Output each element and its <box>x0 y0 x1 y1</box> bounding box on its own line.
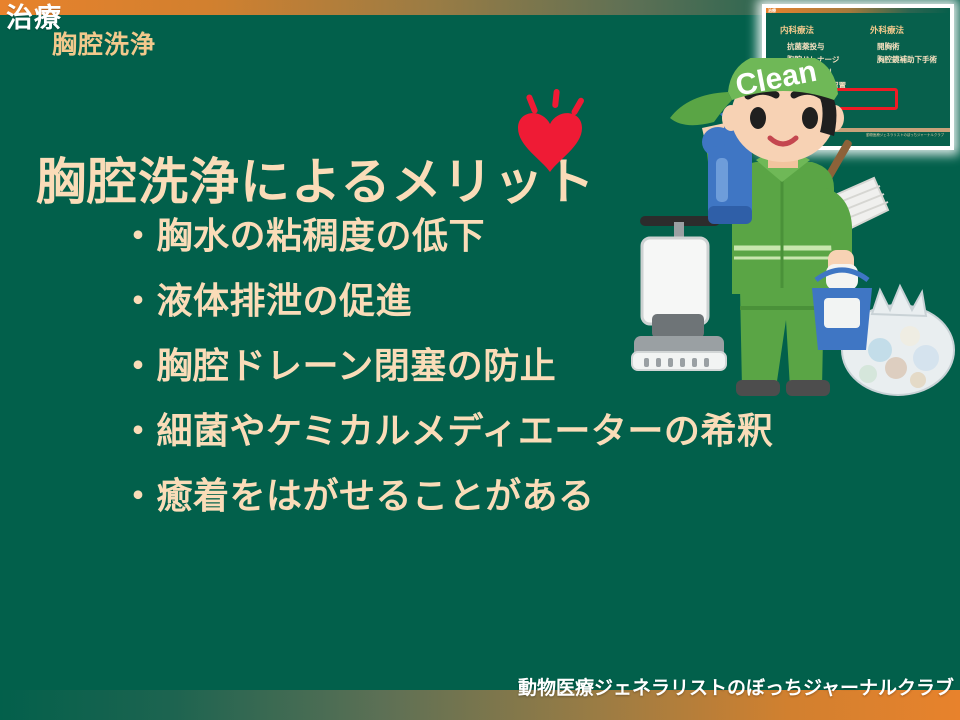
benefits-list: ・胸水の粘稠度の低下 ・液体排泄の促進 ・胸腔ドレーン閉塞の防止 ・細菌やケミカ… <box>120 218 880 543</box>
list-item: ・癒着をはがせることがある <box>120 478 880 514</box>
list-item: ・胸腔ドレーン閉塞の防止 <box>120 348 880 384</box>
list-item: ・胸水の粘稠度の低下 <box>120 218 880 254</box>
thumbnail-kicker: 治療 <box>768 8 776 14</box>
thumbnail-right-heading: 外科療法 <box>870 24 937 37</box>
thumbnail-list-item: 抗菌薬投与 <box>780 40 846 53</box>
thumbnail-list-item: 開胸術 <box>870 40 937 53</box>
section-subtitle: 胸腔洗浄 <box>52 25 156 61</box>
thumbnail-left-heading: 内科療法 <box>780 24 846 37</box>
footer-credit: 動物医療ジェネラリストのぼっちジャーナルクラブ <box>518 673 954 700</box>
list-item: ・液体排泄の促進 <box>120 283 880 319</box>
slide-canvas: 治療 胸腔洗浄 治療 内科療法 抗菌薬投与 胸腔ドレナージ ・胸腔穿刺 ・ドレー… <box>0 0 960 720</box>
thumbnail-header-bar <box>766 8 950 13</box>
heart-sparkle-icon <box>500 88 610 180</box>
list-item: ・細菌やケミカルメディエーターの希釈 <box>120 413 880 449</box>
